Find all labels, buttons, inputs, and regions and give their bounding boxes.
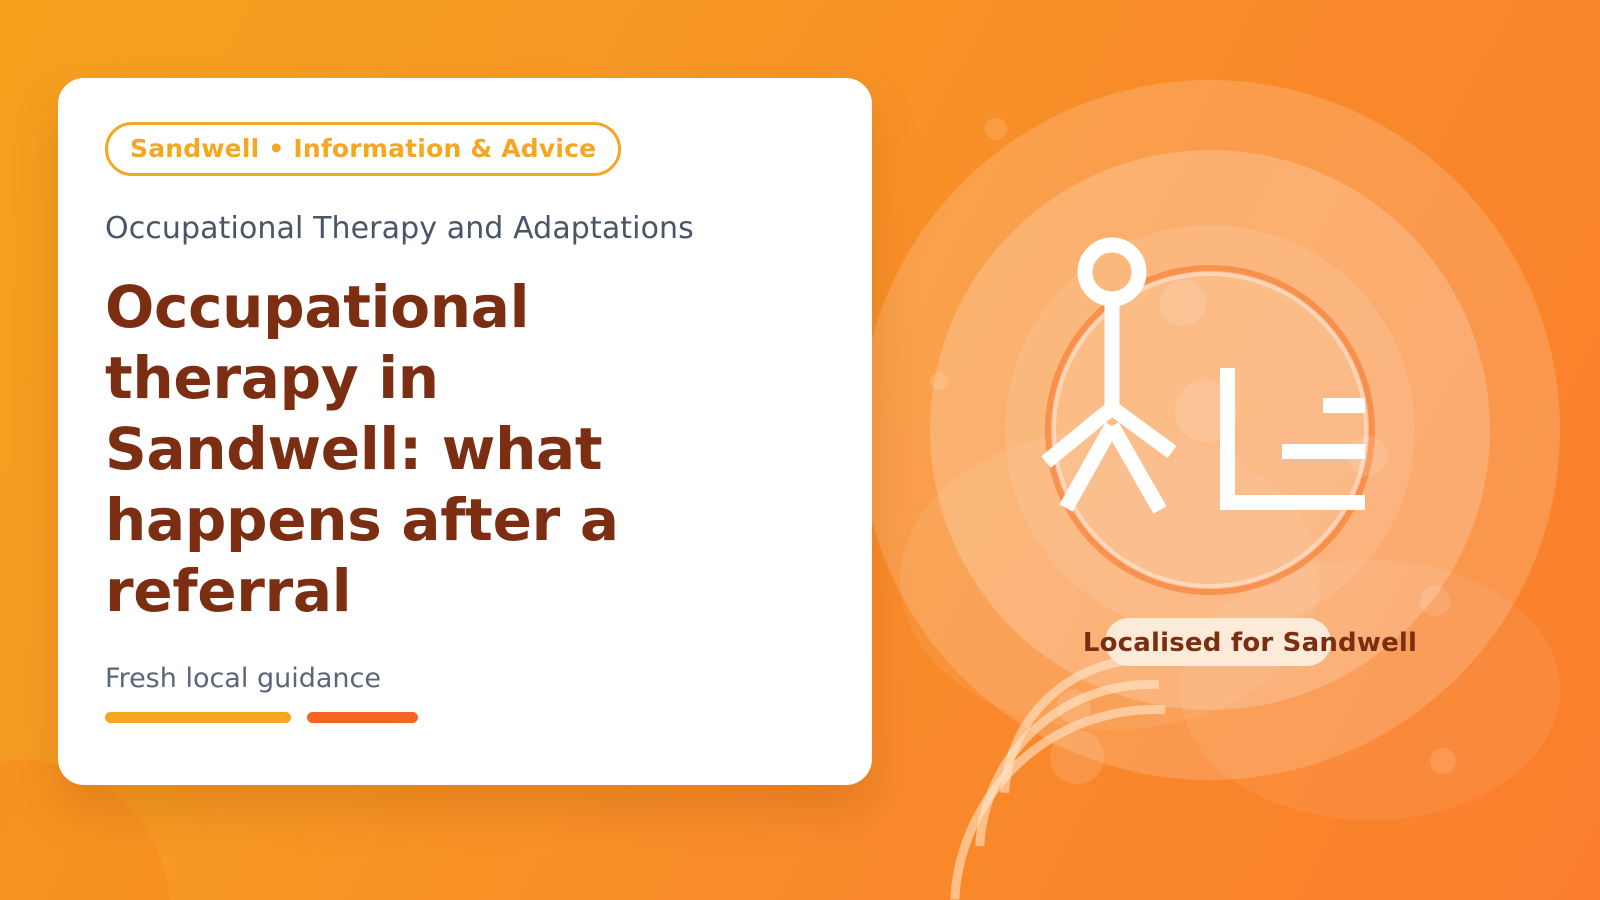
person-head-icon [1085, 245, 1139, 299]
card-footnote: Fresh local guidance [105, 663, 824, 694]
ramp-step-top [1323, 398, 1365, 413]
accent-bars [105, 712, 824, 723]
accent-bar-primary [105, 712, 291, 723]
accent-bar-secondary [307, 712, 418, 723]
ramp-steps-icon [1220, 368, 1365, 510]
hero-illustration [1020, 230, 1420, 530]
decorative-dot [985, 118, 1007, 140]
card-eyebrow: Occupational Therapy and Adaptations [105, 211, 824, 246]
category-badge[interactable]: Sandwell • Information & Advice [105, 122, 621, 176]
decorative-dot [1430, 748, 1456, 774]
decorative-dot [930, 372, 948, 390]
walking-person-icon [1046, 245, 1172, 510]
ramp-step-bottom [1220, 495, 1365, 510]
localised-badge-label: Localised for Sandwell [1040, 622, 1460, 664]
decorative-dot [1420, 586, 1450, 616]
info-card: Sandwell • Information & Advice Occupati… [58, 78, 872, 785]
ramp-step-middle [1282, 444, 1365, 459]
ramp-vertical-bar [1220, 368, 1235, 510]
page-title: Occupational therapy in Sandwell: what h… [105, 272, 725, 627]
